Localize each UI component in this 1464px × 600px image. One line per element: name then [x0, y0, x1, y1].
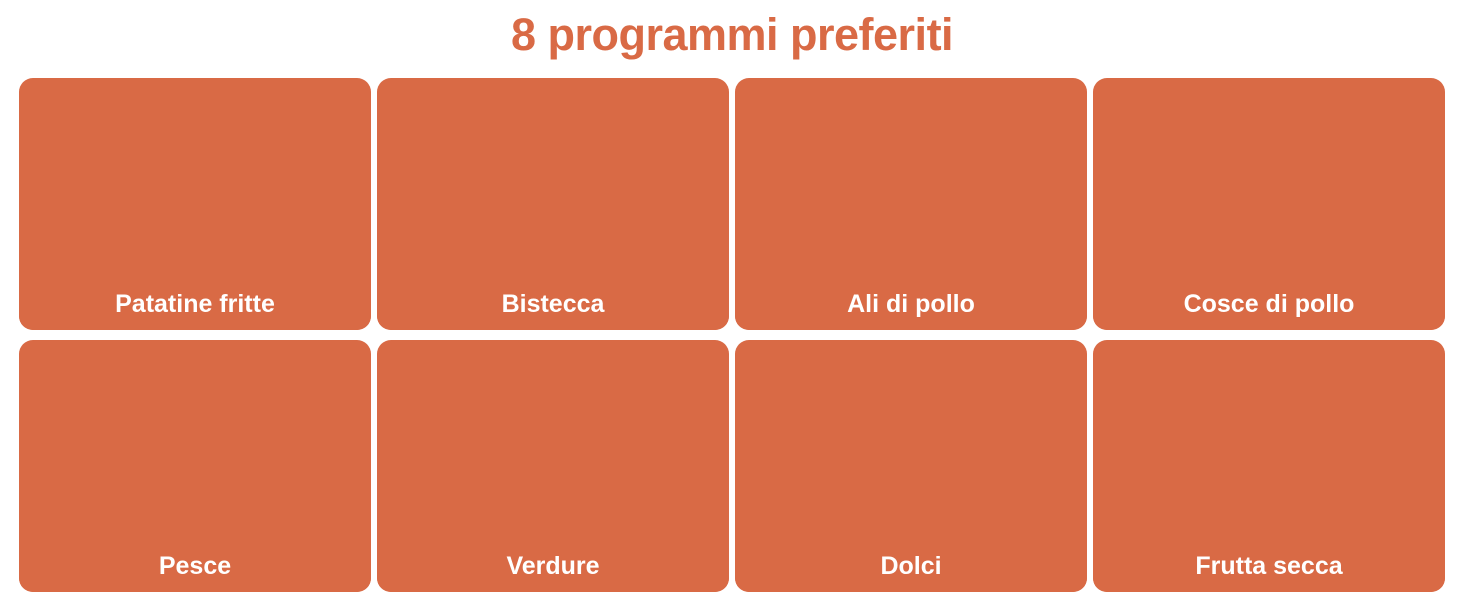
page-title: 8 programmi preferiti	[0, 4, 1464, 66]
program-card-dolci[interactable]: Dolci	[735, 340, 1087, 592]
program-label: Pesce	[19, 540, 371, 592]
chicken-wings-photo	[735, 78, 1087, 278]
grilled-fish-photo	[19, 340, 371, 540]
promo-banner: 8 programmi preferiti Patatine fritte Bi…	[0, 0, 1464, 600]
steak-photo	[377, 78, 729, 278]
program-label: Ali di pollo	[735, 278, 1087, 330]
program-grid: Patatine fritte Bistecca Ali di pollo Co…	[19, 78, 1445, 592]
program-card-ali-di-pollo[interactable]: Ali di pollo	[735, 78, 1087, 330]
grilled-vegetables-photo	[377, 340, 729, 540]
program-label: Patatine fritte	[19, 278, 371, 330]
french-fries-photo	[19, 78, 371, 278]
chicken-drumsticks-photo	[1093, 78, 1445, 278]
program-card-cosce-di-pollo[interactable]: Cosce di pollo	[1093, 78, 1445, 330]
program-label: Cosce di pollo	[1093, 278, 1445, 330]
program-label: Verdure	[377, 540, 729, 592]
program-card-bistecca[interactable]: Bistecca	[377, 78, 729, 330]
program-label: Bistecca	[377, 278, 729, 330]
dried-fruit-photo	[1093, 340, 1445, 540]
program-label: Frutta secca	[1093, 540, 1445, 592]
muffin-photo	[735, 340, 1087, 540]
program-label: Dolci	[735, 540, 1087, 592]
program-card-frutta-secca[interactable]: Frutta secca	[1093, 340, 1445, 592]
program-card-verdure[interactable]: Verdure	[377, 340, 729, 592]
program-card-pesce[interactable]: Pesce	[19, 340, 371, 592]
program-card-patatine-fritte[interactable]: Patatine fritte	[19, 78, 371, 330]
